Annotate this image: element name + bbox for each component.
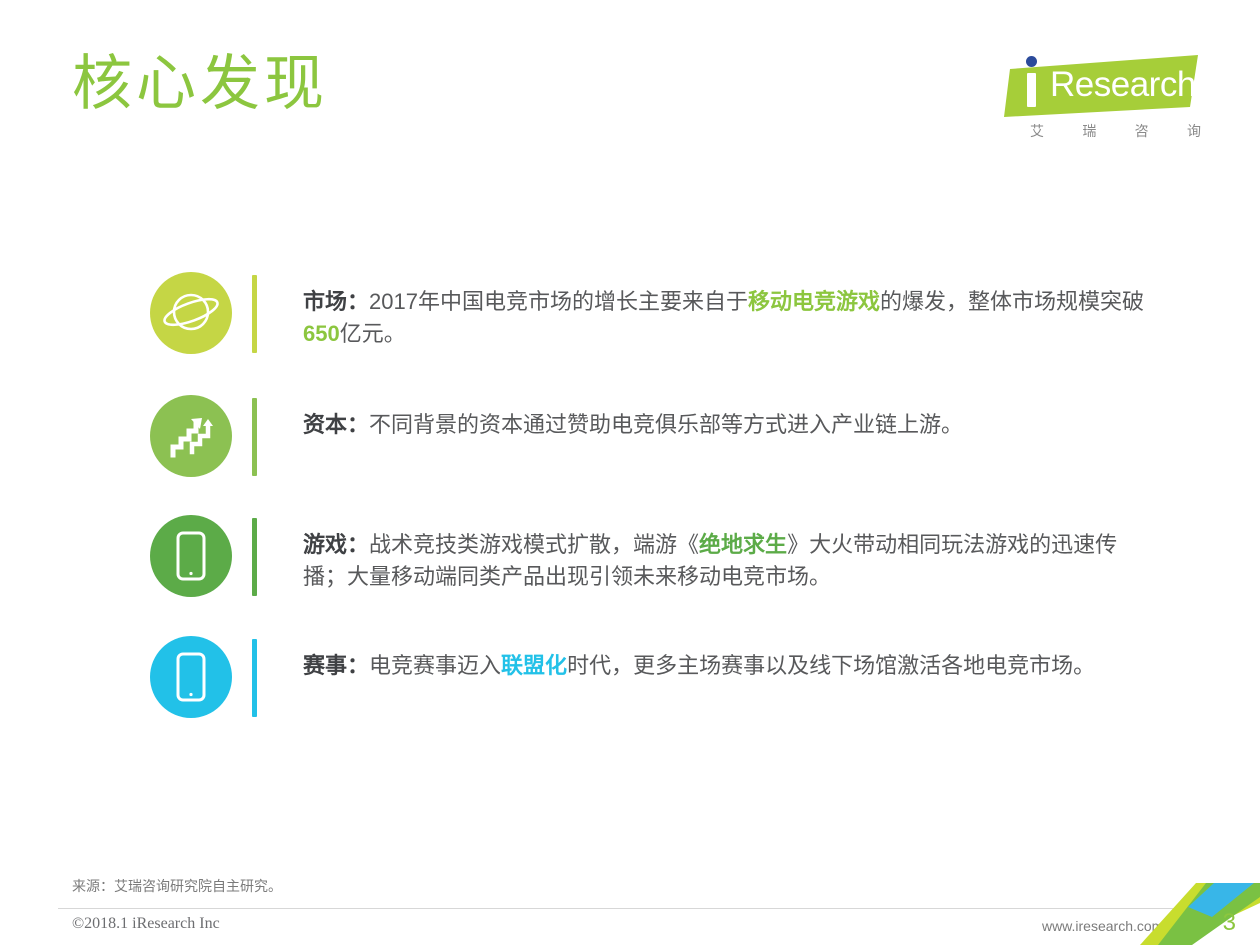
bullet-part-0-1: 移动电竞游戏 bbox=[748, 289, 880, 314]
logo-i-dot-icon bbox=[1026, 56, 1037, 67]
bullet-icon-circle-2 bbox=[150, 515, 232, 597]
source-note: 来源：艾瑞咨询研究院自主研究。 bbox=[72, 876, 282, 896]
planet-icon bbox=[150, 272, 232, 354]
logo-subtitle-char-2: 咨 bbox=[1135, 121, 1150, 141]
bullet-divider-0 bbox=[252, 275, 257, 353]
logo-wordmark: Research bbox=[1050, 63, 1196, 107]
bullet-text-2: 游戏：战术竞技类游戏模式扩散，端游《绝地求生》大火带动相同玩法游戏的迅速传播；大… bbox=[303, 529, 1150, 593]
bullet-part-3-1: 联盟化 bbox=[501, 653, 567, 678]
bullet-divider-1 bbox=[252, 398, 257, 476]
bullet-part-2-0: 战术竞技类游戏模式扩散，端游《 bbox=[369, 532, 699, 557]
bullet-part-2-1: 绝地求生 bbox=[699, 532, 787, 557]
bullet-part-1-0: 不同背景的资本通过赞助电竞俱乐部等方式进入产业链上游。 bbox=[369, 412, 963, 437]
bullet-part-0-0: 2017年中国电竞市场的增长主要来自于 bbox=[369, 289, 748, 314]
bullet-sep-1: ： bbox=[347, 412, 369, 437]
slide-canvas: 核心发现 Research 艾 瑞 咨 询 bbox=[0, 0, 1260, 945]
bullet-label-3: 赛事 bbox=[303, 653, 347, 678]
bullet-label-0: 市场 bbox=[303, 289, 347, 314]
bullet-sep-0: ： bbox=[347, 289, 369, 314]
page-number: 3 bbox=[1223, 909, 1236, 937]
smartphone-icon bbox=[150, 515, 232, 597]
list-item: 资本：不同背景的资本通过赞助电竞俱乐部等方式进入产业链上游。 bbox=[150, 395, 1150, 477]
findings-list: 市场：2017年中国电竞市场的增长主要来自于移动电竞游戏的爆发，整体市场规模突破… bbox=[150, 272, 1150, 718]
bullet-divider-2 bbox=[252, 518, 257, 596]
bullet-label-1: 资本 bbox=[303, 412, 347, 437]
list-item: 市场：2017年中国电竞市场的增长主要来自于移动电竞游戏的爆发，整体市场规模突破… bbox=[150, 272, 1150, 354]
bullet-part-0-4: 亿元。 bbox=[340, 321, 406, 346]
iresearch-logo: Research 艾 瑞 咨 询 bbox=[1002, 55, 1202, 151]
bullet-part-0-3: 650 bbox=[303, 321, 340, 346]
bullet-text-1: 资本：不同背景的资本通过赞助电竞俱乐部等方式进入产业链上游。 bbox=[303, 409, 1150, 441]
bullet-divider-3 bbox=[252, 639, 257, 717]
bullet-sep-3: ： bbox=[347, 653, 369, 678]
logo-i-stem-icon bbox=[1027, 73, 1036, 107]
bullet-icon-circle-0 bbox=[150, 272, 232, 354]
copyright-text: ©2018.1 iResearch Inc bbox=[72, 915, 220, 933]
bullet-part-0-2: 的爆发，整体市场规模突破 bbox=[880, 289, 1144, 314]
corner-decoration bbox=[1140, 883, 1260, 945]
bullet-text-3: 赛事：电竞赛事迈入联盟化时代，更多主场赛事以及线下场馆激活各地电竞市场。 bbox=[303, 650, 1150, 682]
logo-subtitle-char-3: 询 bbox=[1187, 121, 1202, 141]
footer-divider bbox=[58, 908, 1202, 909]
bullet-sep-2: ： bbox=[347, 532, 369, 557]
bullet-label-2: 游戏 bbox=[303, 532, 347, 557]
logo-mark: Research bbox=[1002, 55, 1202, 117]
page-title: 核心发现 bbox=[72, 48, 328, 120]
bullet-icon-circle-3 bbox=[150, 636, 232, 718]
bullet-icon-circle-1 bbox=[150, 395, 232, 477]
logo-subtitle-char-0: 艾 bbox=[1030, 121, 1045, 141]
bullet-part-3-0: 电竞赛事迈入 bbox=[369, 653, 501, 678]
list-item: 游戏：战术竞技类游戏模式扩散，端游《绝地求生》大火带动相同玩法游戏的迅速传播；大… bbox=[150, 515, 1150, 597]
logo-subtitle: 艾 瑞 咨 询 bbox=[1030, 121, 1202, 141]
corner-ribbon-icon bbox=[1140, 883, 1260, 945]
list-item: 赛事：电竞赛事迈入联盟化时代，更多主场赛事以及线下场馆激活各地电竞市场。 bbox=[150, 636, 1150, 718]
growth-arrow-icon bbox=[150, 395, 232, 477]
bullet-part-3-2: 时代，更多主场赛事以及线下场馆激活各地电竞市场。 bbox=[567, 653, 1095, 678]
smartphone-icon bbox=[150, 636, 232, 718]
bullet-text-0: 市场：2017年中国电竞市场的增长主要来自于移动电竞游戏的爆发，整体市场规模突破… bbox=[303, 286, 1150, 350]
logo-subtitle-char-1: 瑞 bbox=[1082, 121, 1097, 141]
